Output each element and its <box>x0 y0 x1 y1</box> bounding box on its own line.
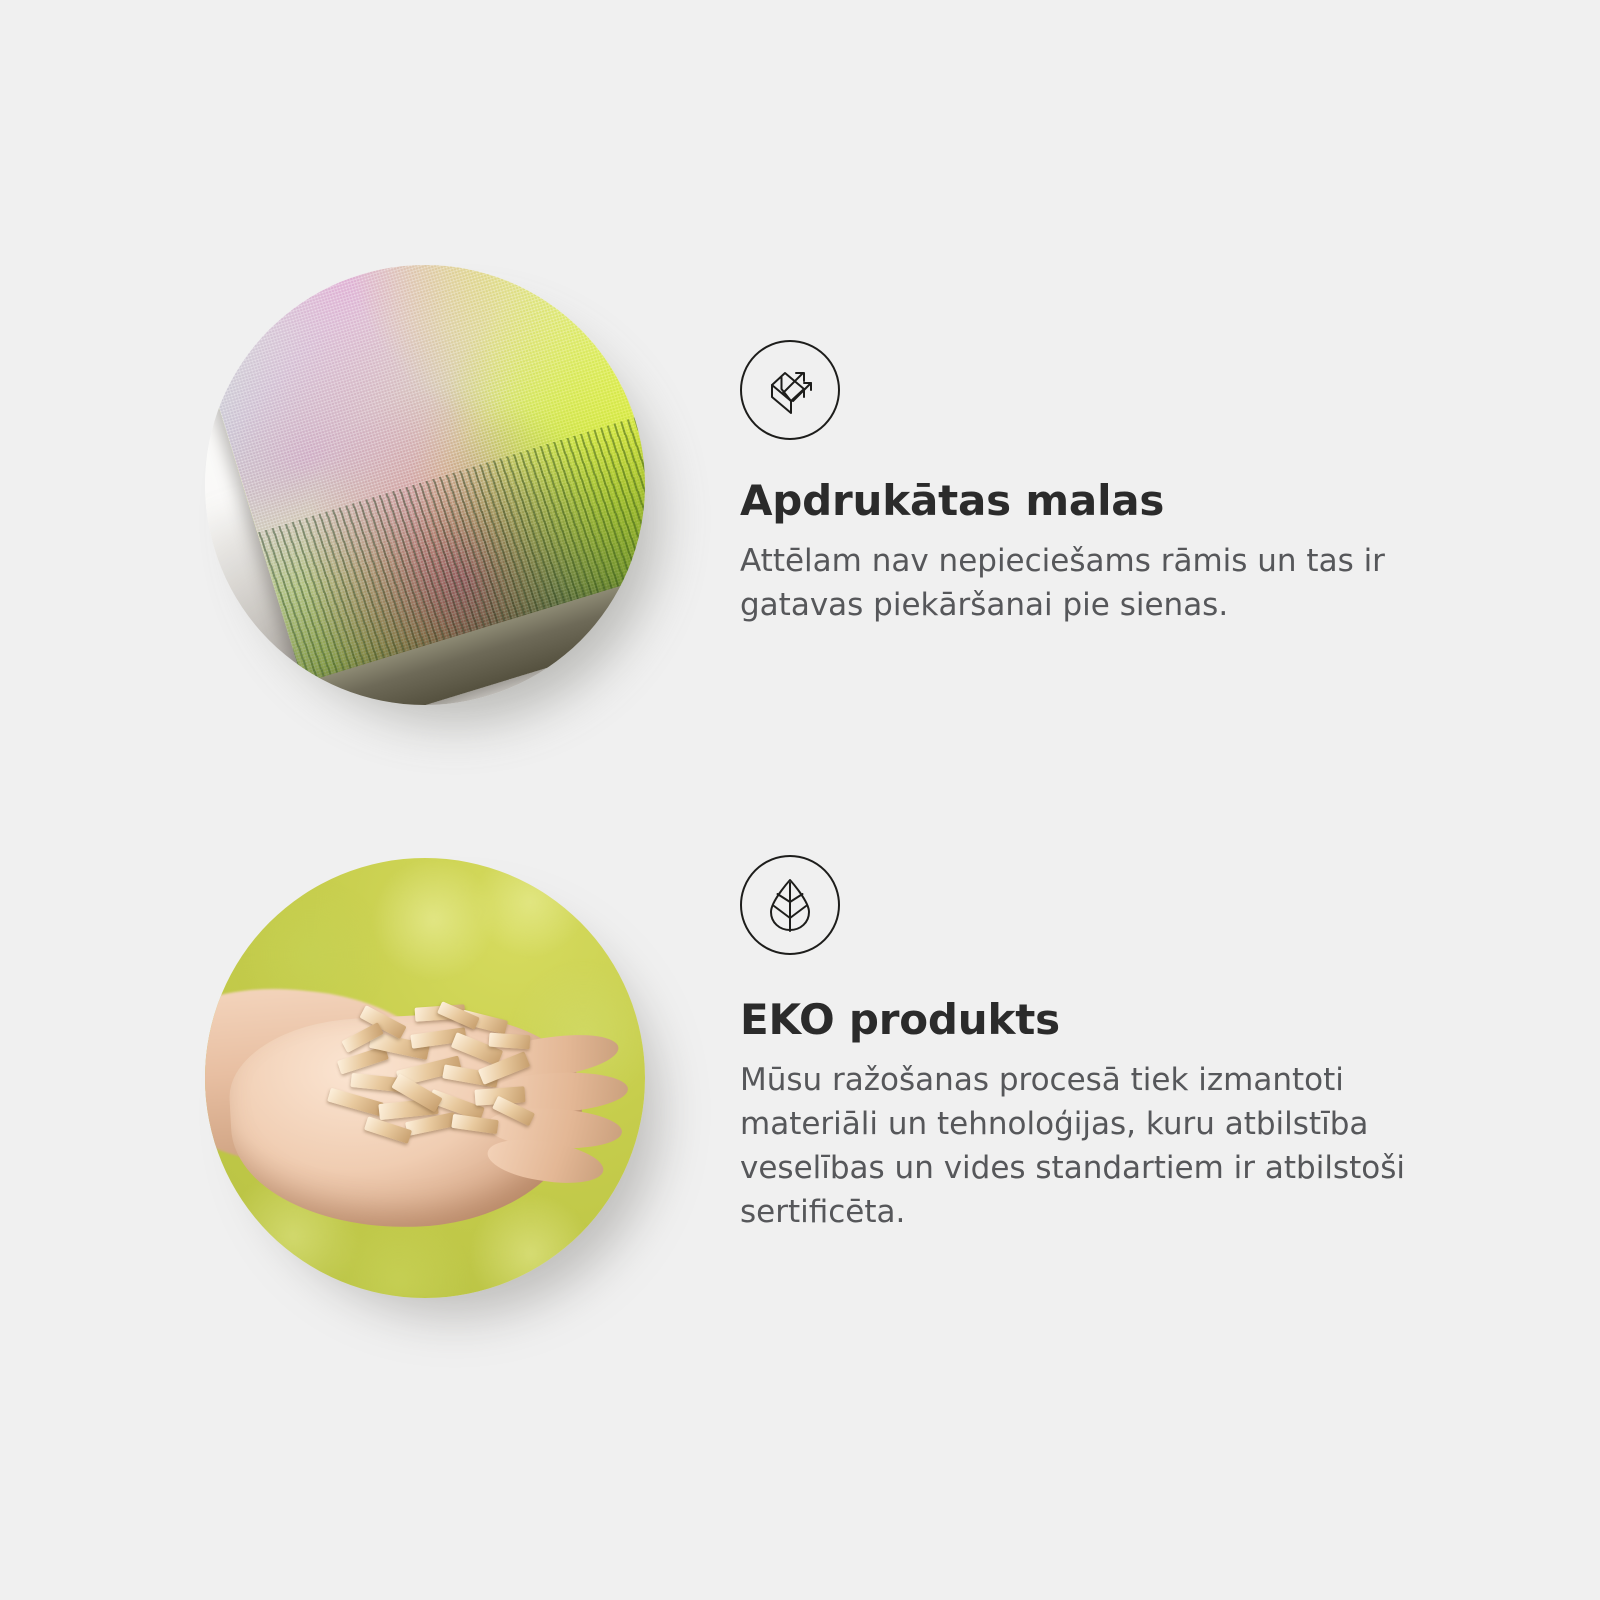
wood-chip <box>337 1046 389 1075</box>
feature-media-printed-edges <box>0 255 740 755</box>
hands-holding-wood-chips-photo <box>205 858 645 1298</box>
feature-media-eco-product <box>0 848 740 1348</box>
wood-chip-heap <box>324 990 553 1148</box>
wood-chip <box>327 1087 384 1116</box>
wood-chip <box>364 1116 412 1144</box>
leaf-icon <box>740 855 840 955</box>
feature-title: Apdrukātas malas <box>740 476 1500 525</box>
feature-block-printed-edges: Apdrukātas malas Attēlam nav nepieciešam… <box>0 255 1600 755</box>
feature-list-page: Apdrukātas malas Attēlam nav nepieciešam… <box>0 0 1600 1600</box>
wood-chip <box>451 1114 498 1134</box>
feature-description: Mūsu ražošanas procesā tiek izmantoti ma… <box>740 1058 1455 1234</box>
feature-block-eco-product: EKO produkts Mūsu ražošanas procesā tiek… <box>0 848 1600 1348</box>
feature-description: Attēlam nav nepieciešams rāmis un tas ir… <box>740 539 1450 627</box>
feature-text-printed-edges: Apdrukātas malas Attēlam nav nepieciešam… <box>740 255 1500 627</box>
feature-text-eco-product: EKO produkts Mūsu ražošanas procesā tiek… <box>740 848 1500 1234</box>
canvas-wrapped-edge-icon <box>740 340 840 440</box>
printed-canvas-corner-photo <box>205 265 645 705</box>
feature-title: EKO produkts <box>740 995 1500 1044</box>
